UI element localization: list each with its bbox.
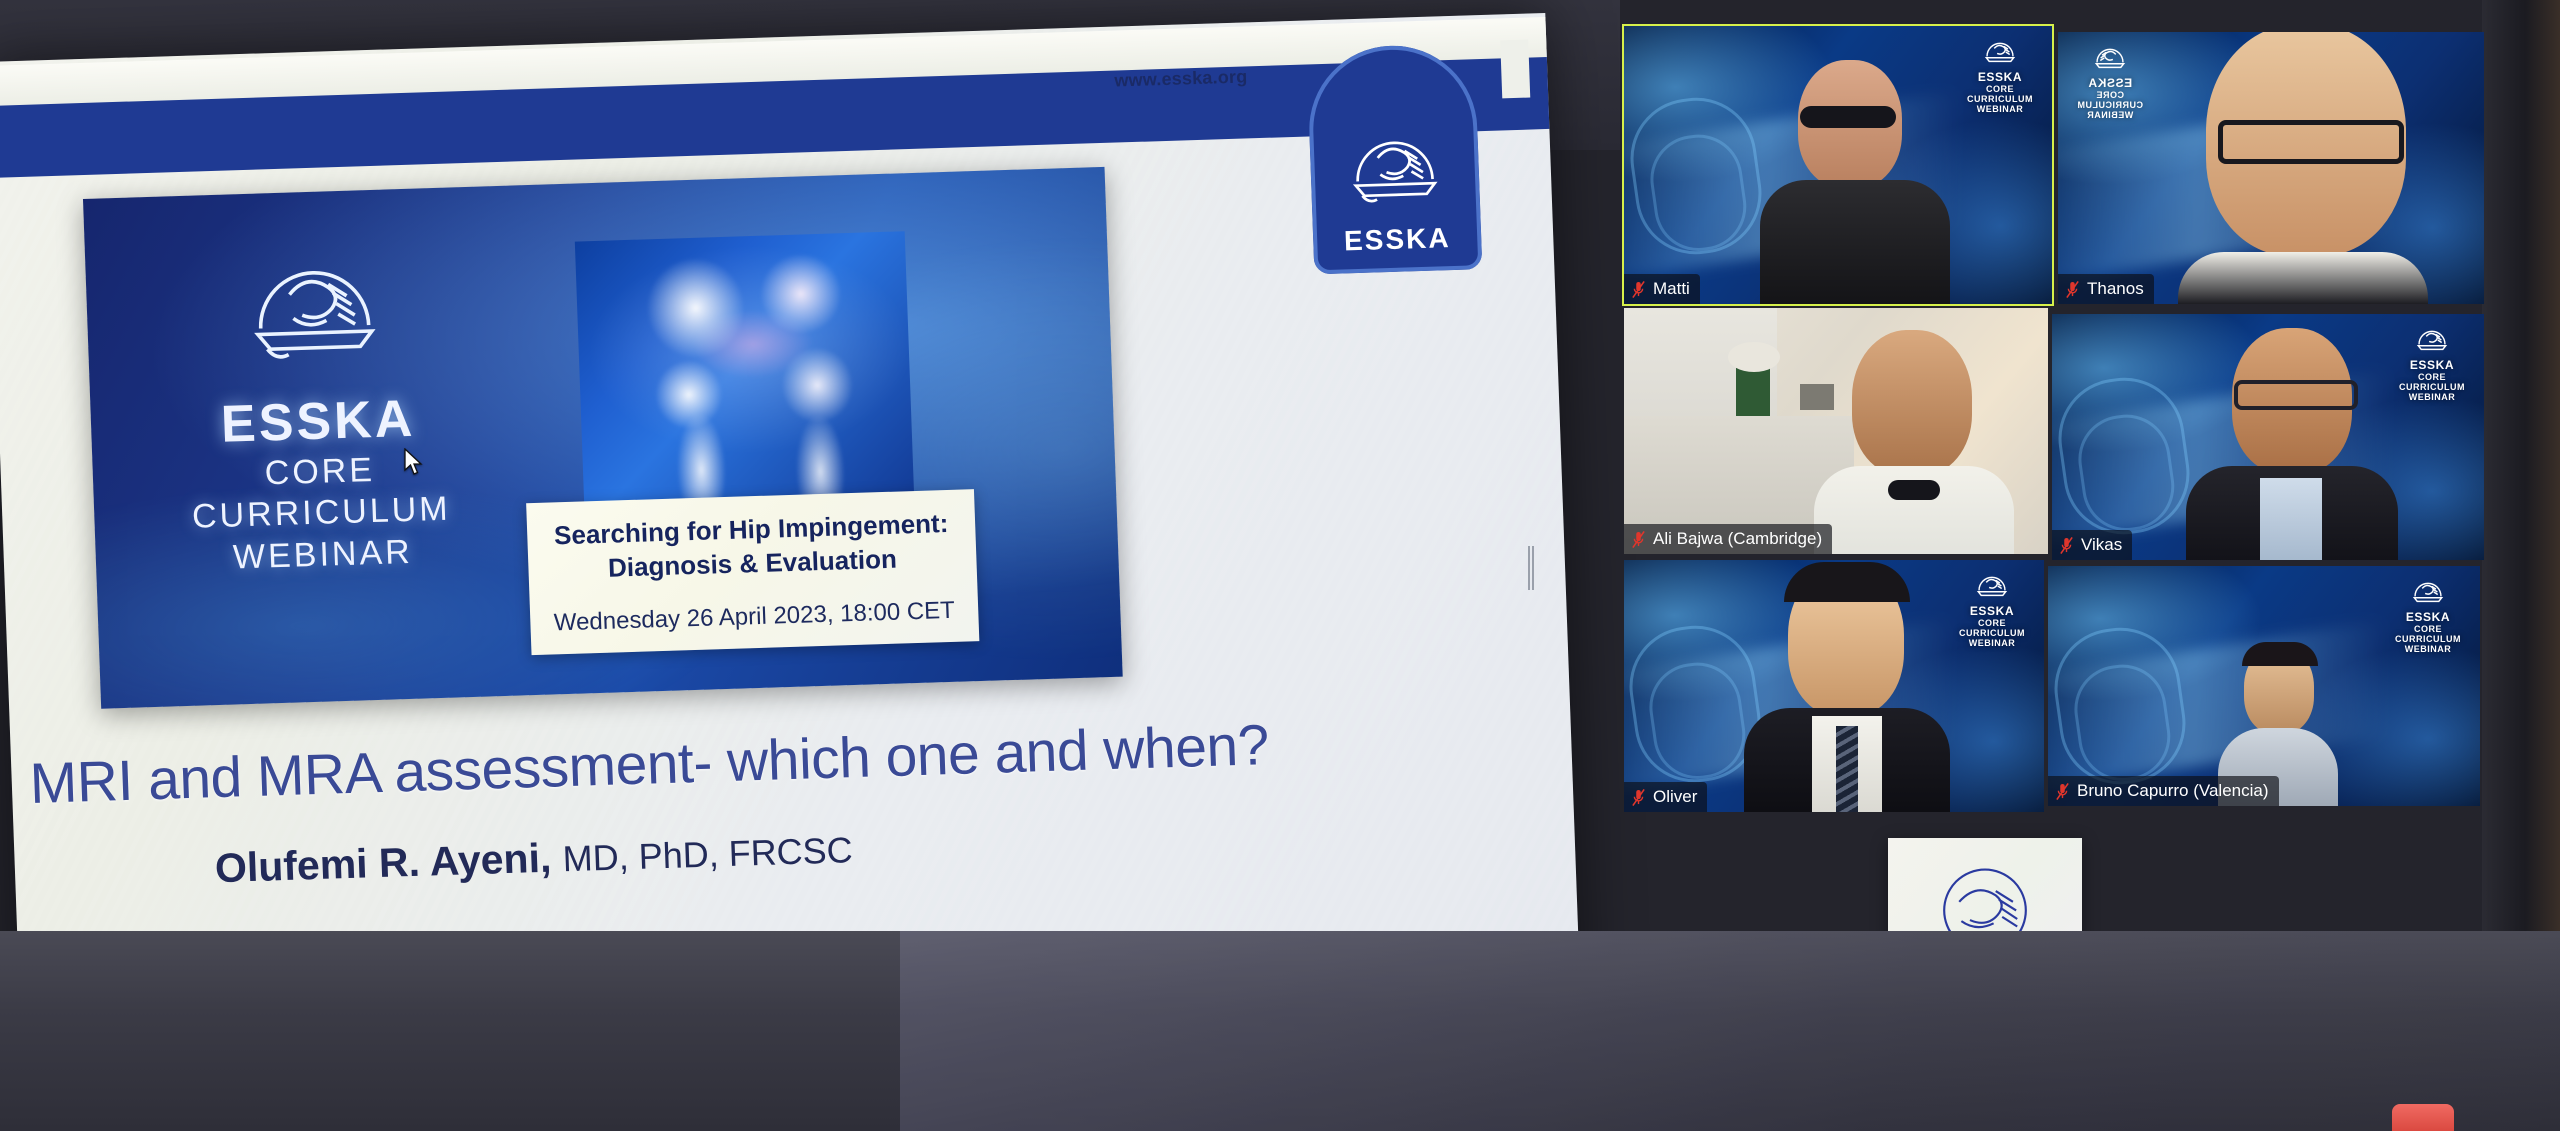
watermark-curriculum: CURRICULUM [1958,94,2042,104]
screen-photo: www.esska.org ESSKA [0,0,2560,1131]
watermark-curriculum: CURRICULUM [1950,628,2034,638]
watermark-esska: ESSKA [1950,605,2034,618]
plant-flower [1728,342,1780,372]
xray-glow [575,231,914,511]
watermark-esska: ESSKA [2386,611,2470,624]
webinar-datetime: Wednesday 26 April 2023, 18:00 CET [544,596,965,637]
esska-emblem-icon [2092,40,2128,76]
esska-webinar-watermark: ESSKA CORE CURRICULUM WEBINAR [1950,568,2034,648]
esska-webinar-watermark: ESSKA CORE CURRICULUM WEBINAR [2390,322,2474,402]
presenter-name: Olufemi R. Ayeni, [214,835,552,892]
participant-name: Thanos [2087,279,2144,299]
watermark-core: CORE [2386,624,2470,634]
video-tile-thanos[interactable]: ESSKA CORE CURRICULUM WEBINAR Thanos [2058,32,2484,304]
esska-shield-logo: ESSKA [1306,43,1482,274]
watermark-esska: ESSKA [2390,359,2474,372]
watermark-webinar: WEBINAR [1958,104,2042,114]
participant-name-bar: Vikas [2052,530,2132,560]
participant-name: Matti [1653,279,1690,299]
video-tile-matti[interactable]: ESSKA CORE CURRICULUM WEBINAR Matti [1624,26,2052,304]
esska-emblem-icon [1982,34,2018,70]
slide-corner-notch [1500,40,1530,99]
participant-name: Bruno Capurro (Valencia) [2077,781,2269,801]
video-tile-bruno-capurro[interactable]: ESSKA CORE CURRICULUM WEBINAR Bruno Capu… [2048,566,2480,806]
slide-main-title: MRI and MRA assessment- which one and wh… [29,705,1511,817]
video-tile-vikas[interactable]: ESSKA CORE CURRICULUM WEBINAR Vikas [2052,314,2484,560]
watermark-curriculum: CURRICULUM [2390,382,2474,392]
mic-muted-icon [2055,782,2070,801]
bow-tie [1888,480,1940,500]
participant-video-grid: ESSKA CORE CURRICULUM WEBINAR Matti [1624,26,2484,836]
slide-url-text: www.esska.org [1114,66,1248,91]
watermark-curriculum: CURRICULUM [2068,100,2152,110]
webinar-title-box: Searching for Hip Impingement: Diagnosis… [526,489,979,655]
presentation-slide[interactable]: www.esska.org ESSKA [0,13,1581,1071]
participant-name-bar: Oliver [1624,782,1707,812]
watermark-webinar: WEBINAR [2068,110,2152,120]
participant-silhouette [2178,32,2428,304]
participant-name-bar: Thanos [2058,274,2154,304]
participant-silhouette [1744,566,1950,812]
video-tile-ali-bajwa[interactable]: Ali Bajwa (Cambridge) [1624,308,2048,554]
participant-name-bar: Ali Bajwa (Cambridge) [1624,524,1832,554]
participant-name: Vikas [2081,535,2122,555]
hardware-red-indicator [2392,1104,2454,1131]
esska-webinar-watermark: ESSKA CORE CURRICULUM WEBINAR [1958,34,2042,114]
video-tile-oliver[interactable]: ESSKA CORE CURRICULUM WEBINAR Oliver [1624,560,2044,812]
participant-name-bar: Matti [1624,274,1700,304]
mic-muted-icon [1631,280,1646,299]
presenter-degrees: MD, PhD, FRCSC [562,829,853,879]
participant-name: Oliver [1653,787,1697,807]
watermark-core: CORE [1950,618,2034,628]
watermark-core: CORE [2068,90,2152,100]
esska-emblem-icon [236,232,391,387]
slide-presenter-line: Olufemi R. Ayeni, MD, PhD, FRCSC [214,808,1415,893]
participant-silhouette [1814,330,2014,554]
watermark-webinar: WEBINAR [2390,392,2474,402]
watermark-esska: ESSKA [2068,77,2152,90]
participant-silhouette [2186,328,2398,560]
mic-muted-icon [2059,536,2074,555]
esska-emblem-icon [2414,322,2450,358]
watermark-curriculum: CURRICULUM [2386,634,2470,644]
watermark-webinar: WEBINAR [1950,638,2034,648]
panel-brand-block: ESSKA CORE CURRICULUM WEBINAR [146,229,488,582]
esska-webinar-watermark: ESSKA CORE CURRICULUM WEBINAR [2386,574,2470,654]
esska-shield-name: ESSKA [1343,222,1451,257]
esska-emblem-icon [1341,114,1449,221]
panel-resize-handle[interactable] [1528,546,1536,590]
participant-silhouette [1760,60,1950,304]
watermark-core: CORE [1958,84,2042,94]
slide-content-panel: ESSKA CORE CURRICULUM WEBINAR Searching … [83,167,1123,709]
slide-surface: www.esska.org ESSKA [0,13,1581,1071]
watermark-webinar: WEBINAR [2386,644,2470,654]
participant-name-bar: Bruno Capurro (Valencia) [2048,776,2279,806]
participant-name: Ali Bajwa (Cambridge) [1653,529,1822,549]
watermark-esska: ESSKA [1958,71,2042,84]
esska-webinar-watermark-mirrored: ESSKA CORE CURRICULUM WEBINAR [2068,40,2152,120]
mic-muted-icon [1631,788,1646,807]
mic-muted-icon [1631,530,1646,549]
hip-xray-image [575,231,914,511]
esska-emblem-icon [1974,568,2010,604]
desk-reflection [900,931,2560,1131]
watermark-core: CORE [2390,372,2474,382]
esska-emblem-icon [2410,574,2446,610]
panel-brand-name: ESSKA [152,387,484,457]
mic-muted-icon [2065,280,2080,299]
